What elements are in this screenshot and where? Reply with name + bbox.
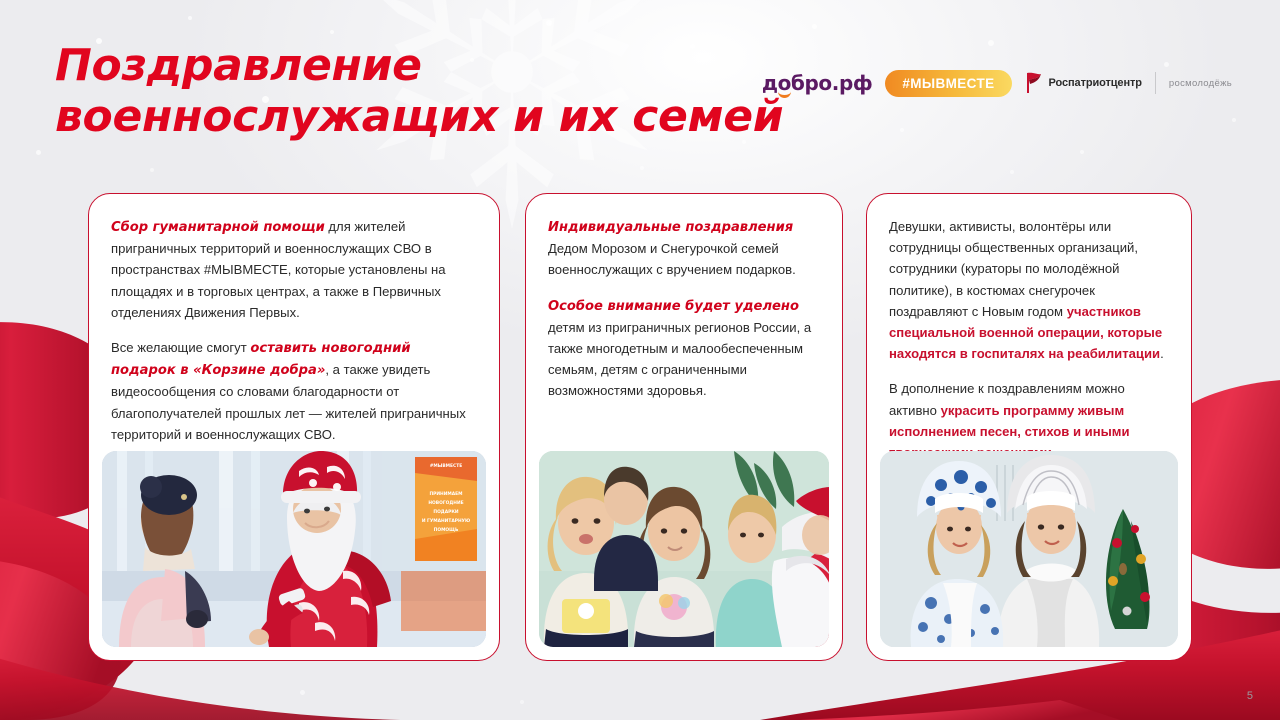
rosmolodezh-logo: росмолодёжь <box>1169 78 1232 89</box>
rospatriotcentr-logo-text: Роспатриотцентр <box>1049 77 1142 89</box>
svg-text:ПРИНИМАЕМ: ПРИНИМАЕМ <box>429 491 462 497</box>
myvmeste-logo: #МЫВМЕСТЕ <box>885 70 1011 97</box>
logo-divider <box>1155 72 1156 94</box>
rospatriotcentr-flag-icon <box>1025 71 1043 95</box>
svg-text:ПОДАРКИ: ПОДАРКИ <box>433 509 459 515</box>
logo-strip: добро.рф #МЫВМЕСТЕ Роспатриотцентр росмо… <box>762 66 1232 100</box>
paragraph: Особое внимание будет уделено детям из п… <box>548 295 820 402</box>
body-text: . <box>1160 346 1164 361</box>
highlighted-text: Индивидуальные поздравления <box>548 220 793 235</box>
svg-text:НОВОГОДНИЕ: НОВОГОДНИЕ <box>428 500 463 506</box>
card-text-block: Сбор гуманитарной помощи для жителей при… <box>89 194 499 445</box>
page-title: Поздравление военнослужащих и их семей <box>55 40 815 142</box>
card-individual-greetings: Индивидуальные поздравления Дедом Морозо… <box>525 193 843 661</box>
card-text-block: Девушки, активисты, волонтёры или сотруд… <box>867 194 1191 463</box>
svg-text:ПОМОЩЬ: ПОМОЩЬ <box>434 527 459 533</box>
highlighted-text: Сбор гуманитарной помощи <box>111 220 325 235</box>
card-snegurochka-greetings: Девушки, активисты, волонтёры или сотруд… <box>866 193 1192 661</box>
paragraph: Девушки, активисты, волонтёры или сотруд… <box>889 216 1169 364</box>
rospatriotcentr-logo: Роспатриотцентр <box>1025 71 1142 95</box>
svg-text:И ГУМАНИТАРНУЮ: И ГУМАНИТАРНУЮ <box>422 518 470 524</box>
paragraph: Индивидуальные поздравления Дедом Морозо… <box>548 216 820 281</box>
photo-two-snegurochkas <box>880 451 1178 647</box>
card-text-block: Индивидуальные поздравления Дедом Морозо… <box>526 194 842 402</box>
dobro-rf-logo: добро.рф <box>762 71 872 95</box>
photo-children-meeting-ded-moroz <box>539 451 829 647</box>
dobro-smile-icon <box>778 88 791 98</box>
slide: Поздравление военнослужащих и их семей д… <box>0 0 1280 720</box>
body-text: детям из приграничных регионов России, а… <box>548 320 811 399</box>
card-humanitarian-aid: Сбор гуманитарной помощи для жителей при… <box>88 193 500 661</box>
body-text: Дедом Морозом и Снегурочкой семей военно… <box>548 241 796 277</box>
svg-text:#МЫВМЕСТЕ: #МЫВМЕСТЕ <box>430 463 463 469</box>
highlighted-text: Особое внимание будет уделено <box>548 299 799 314</box>
body-text: Все желающие смогут <box>111 340 250 355</box>
photo-ded-moroz-with-girl: #МЫВМЕСТЕ ПРИНИМАЕМ НОВОГОДНИЕ ПОДАРКИ И… <box>102 451 486 647</box>
page-number: 5 <box>1247 690 1253 702</box>
paragraph: Все желающие смогут оставить новогодний … <box>111 337 477 445</box>
paragraph: Сбор гуманитарной помощи для жителей при… <box>111 216 477 323</box>
